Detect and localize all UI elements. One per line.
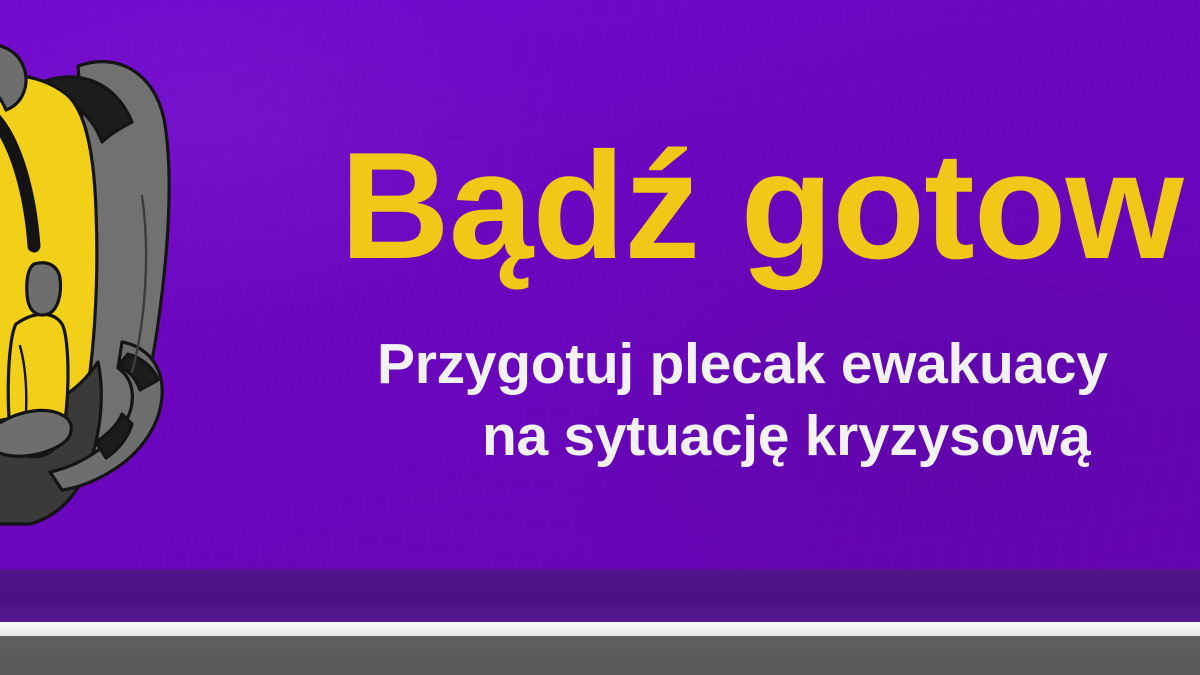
- footer-band-white: [0, 622, 1200, 636]
- backpack-side-tab: [27, 263, 61, 315]
- subtitle-line-1: Przygotuj plecak ewakuacy: [340, 328, 1200, 400]
- footer-band-gray: [0, 636, 1200, 675]
- emergency-preparedness-banner: Bądź gotow Przygotuj plecak ewakuacy na …: [0, 0, 1200, 675]
- backpack-illustration: [0, 24, 217, 569]
- subtitle: Przygotuj plecak ewakuacy na sytuację kr…: [340, 328, 1200, 472]
- page-title: Bądź gotow: [340, 130, 1183, 282]
- subtitle-line-2: na sytuację kryzysową: [340, 400, 1200, 472]
- footer-band-dark-purple: [0, 569, 1200, 622]
